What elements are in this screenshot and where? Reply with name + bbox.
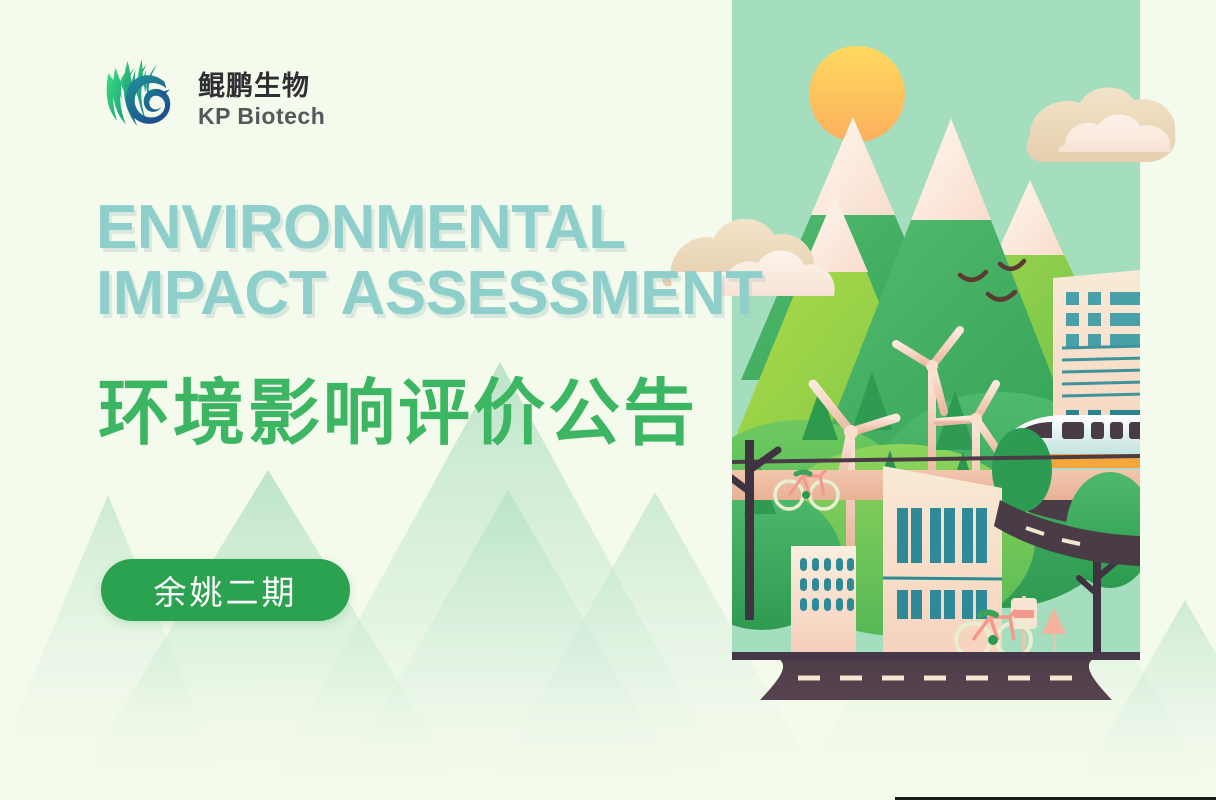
page-title-chinese: 环境影响评价公告 bbox=[98, 378, 698, 450]
brand-name-en: KP Biotech bbox=[198, 104, 325, 129]
phoenix-swirl-logo-icon bbox=[96, 52, 184, 144]
project-phase-badge[interactable]: 余姚二期 bbox=[101, 559, 350, 621]
brand-text: 鲲鹏生物 KP Biotech bbox=[198, 67, 325, 129]
brand-name-cn: 鲲鹏生物 bbox=[198, 71, 325, 102]
project-phase-badge-label: 余姚二期 bbox=[154, 566, 298, 614]
title-en-line-1: ENVIRONMENTAL bbox=[96, 198, 856, 258]
title-en-line-2: IMPACT ASSESSMENT bbox=[96, 264, 856, 324]
page-title-english: ENVIRONMENTAL IMPACT ASSESSMENT bbox=[96, 198, 856, 323]
brand-logo: 鲲鹏生物 KP Biotech bbox=[96, 52, 325, 144]
